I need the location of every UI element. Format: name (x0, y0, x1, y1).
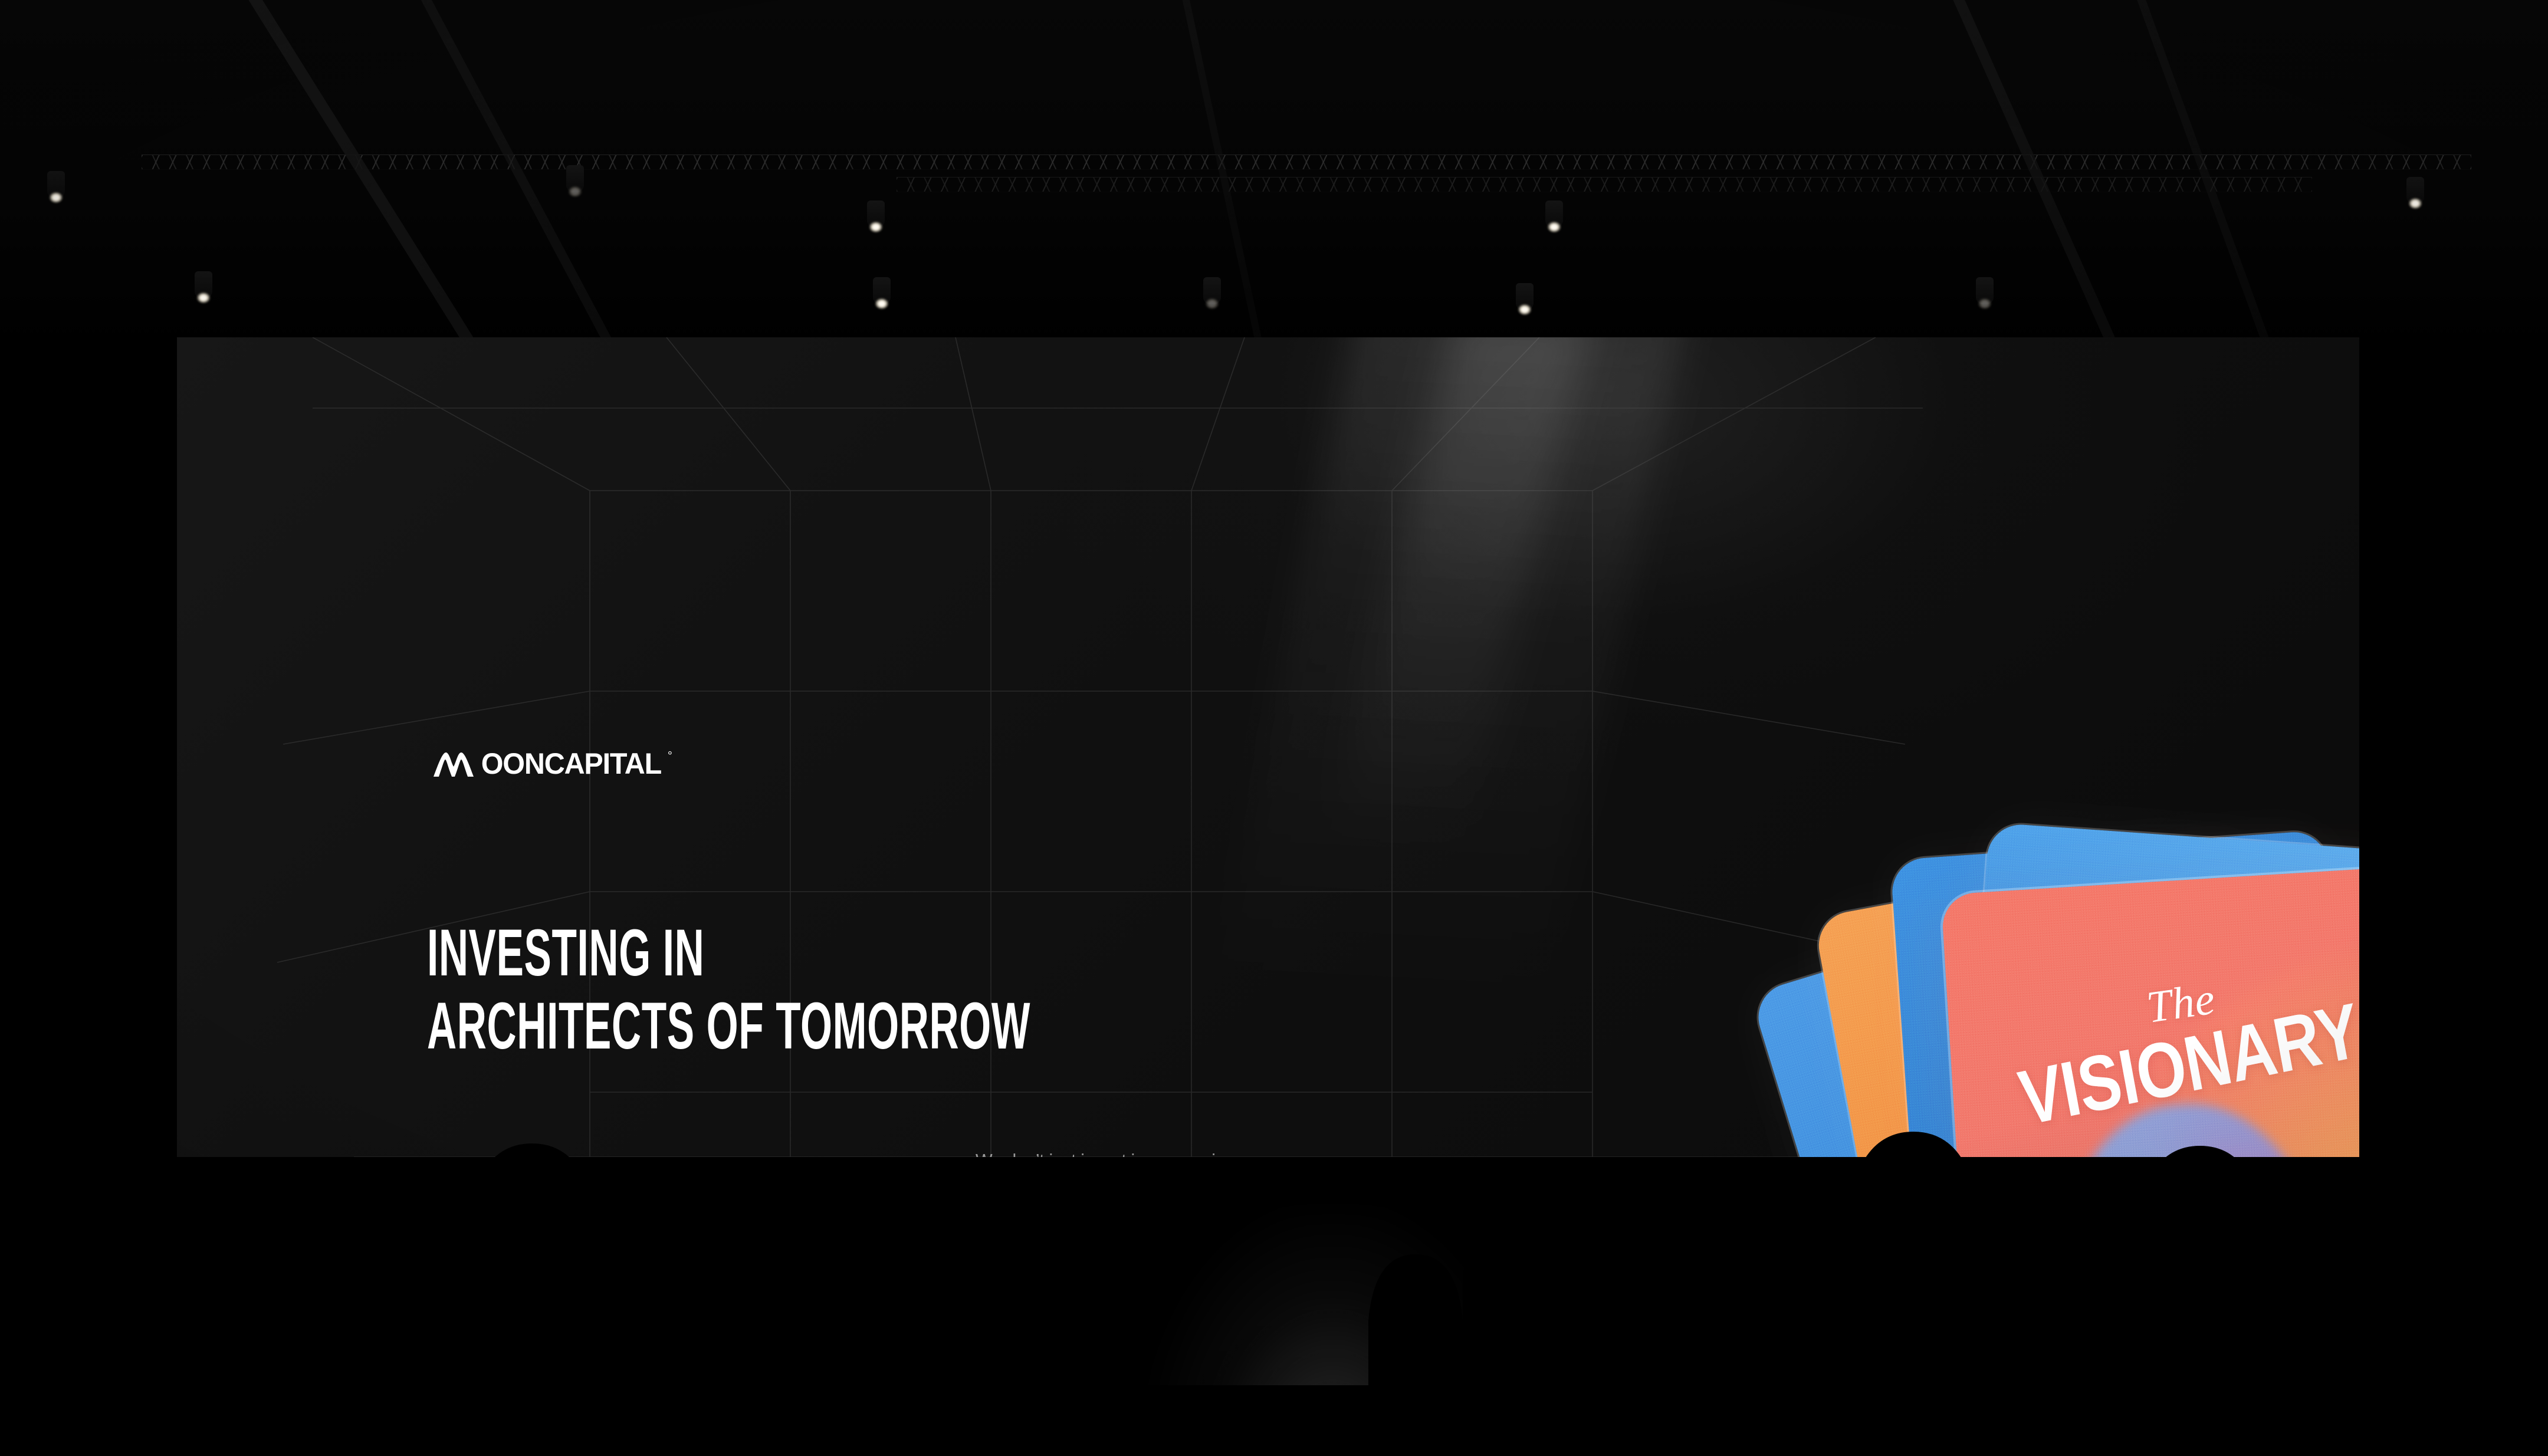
led-stage-screen[interactable]: OONCAPITAL ° INVESTING IN ARCHITECTS OF … (177, 337, 2359, 1157)
stage-light (867, 201, 885, 228)
venue-scene: OONCAPITAL ° INVESTING IN ARCHITECTS OF … (0, 0, 2548, 1456)
floor-reflection (1150, 1208, 1516, 1456)
card-visionary[interactable]: The VISIONARY (1941, 866, 2359, 1157)
page-title: INVESTING IN ARCHITECTS OF TOMORROW (427, 921, 1430, 1057)
stage-light (1516, 283, 1534, 310)
stage-light (1203, 277, 1221, 304)
stage-light (873, 277, 891, 304)
stage-light (1976, 277, 1994, 304)
moon-wave-m-icon (432, 749, 475, 781)
stage-light (1545, 201, 1563, 228)
card-stack[interactable]: The VISIONARY (1781, 833, 2359, 1157)
headline-line-1: INVESTING IN (427, 921, 1049, 985)
ceiling-truss-secondary (897, 177, 2312, 192)
stage-light (566, 165, 584, 192)
stage-light (195, 271, 212, 298)
ceiling-truss (142, 155, 2471, 170)
degree-icon: ° (668, 750, 672, 762)
stage-light (2406, 177, 2424, 204)
stage-light (47, 171, 65, 198)
brand-wordmark: OONCAPITAL (481, 749, 661, 778)
subtitle-line-1: We don’t just invest in companies. (750, 1146, 1239, 1157)
headline-line-2: ARCHITECTS OF TOMORROW (427, 994, 1049, 1058)
brand-logo[interactable]: OONCAPITAL ° (432, 749, 672, 781)
subtitle: We don’t just invest in companies. We in… (750, 1146, 1239, 1157)
